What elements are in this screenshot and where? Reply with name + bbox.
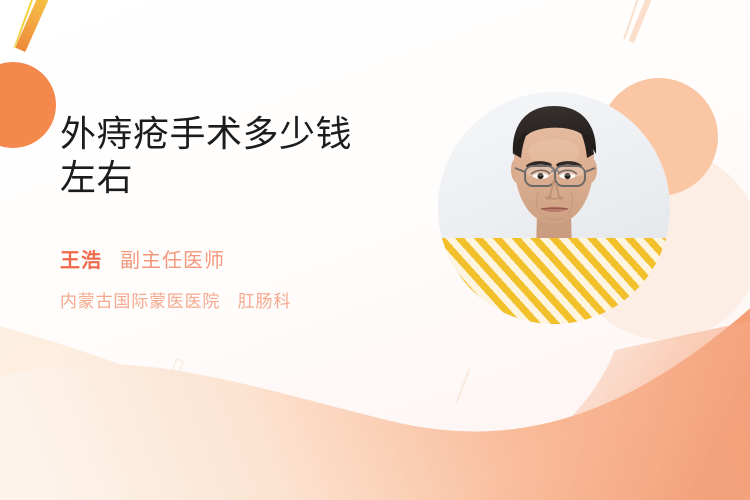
doctor-portrait-image	[438, 92, 670, 324]
portrait-stripe-overlay	[438, 238, 670, 324]
hospital-name: 内蒙古国际蒙医医院	[60, 292, 220, 311]
hospital-affiliation-line: 内蒙古国际蒙医医院 肛肠科	[60, 287, 430, 312]
peach-thin-stroke-decoration	[623, 0, 642, 39]
doctor-name: 王浩	[60, 244, 102, 273]
background-wave-decoration	[0, 285, 750, 500]
hospital-department: 肛肠科	[238, 292, 291, 311]
outline-slash-decoration	[160, 358, 184, 404]
faint-peach-circle-decoration	[570, 150, 750, 340]
text-content-block: 外痔疮手术多少钱 左右 王浩 副主任医师 内蒙古国际蒙医医院 肛肠科	[60, 112, 430, 312]
foreground-wave-decoration	[0, 290, 750, 500]
thin-diagonal-line-decoration	[13, 0, 37, 48]
doctor-credentials-line: 王浩 副主任医师	[60, 244, 430, 273]
orange-circle-decoration	[0, 62, 56, 148]
diagonal-stripe-decoration	[15, 0, 54, 52]
thin-slash-decoration	[456, 369, 471, 403]
peach-circle-decoration	[600, 78, 718, 196]
page-title: 外痔疮手术多少钱 左右	[60, 112, 430, 200]
doctor-qa-card: 外痔疮手术多少钱 左右 王浩 副主任医师 内蒙古国际蒙医医院 肛肠科	[0, 0, 750, 500]
doctor-portrait	[438, 92, 670, 324]
doctor-professional-title: 副主任医师	[120, 244, 225, 273]
peach-diagonal-stroke-decoration	[628, 0, 655, 43]
